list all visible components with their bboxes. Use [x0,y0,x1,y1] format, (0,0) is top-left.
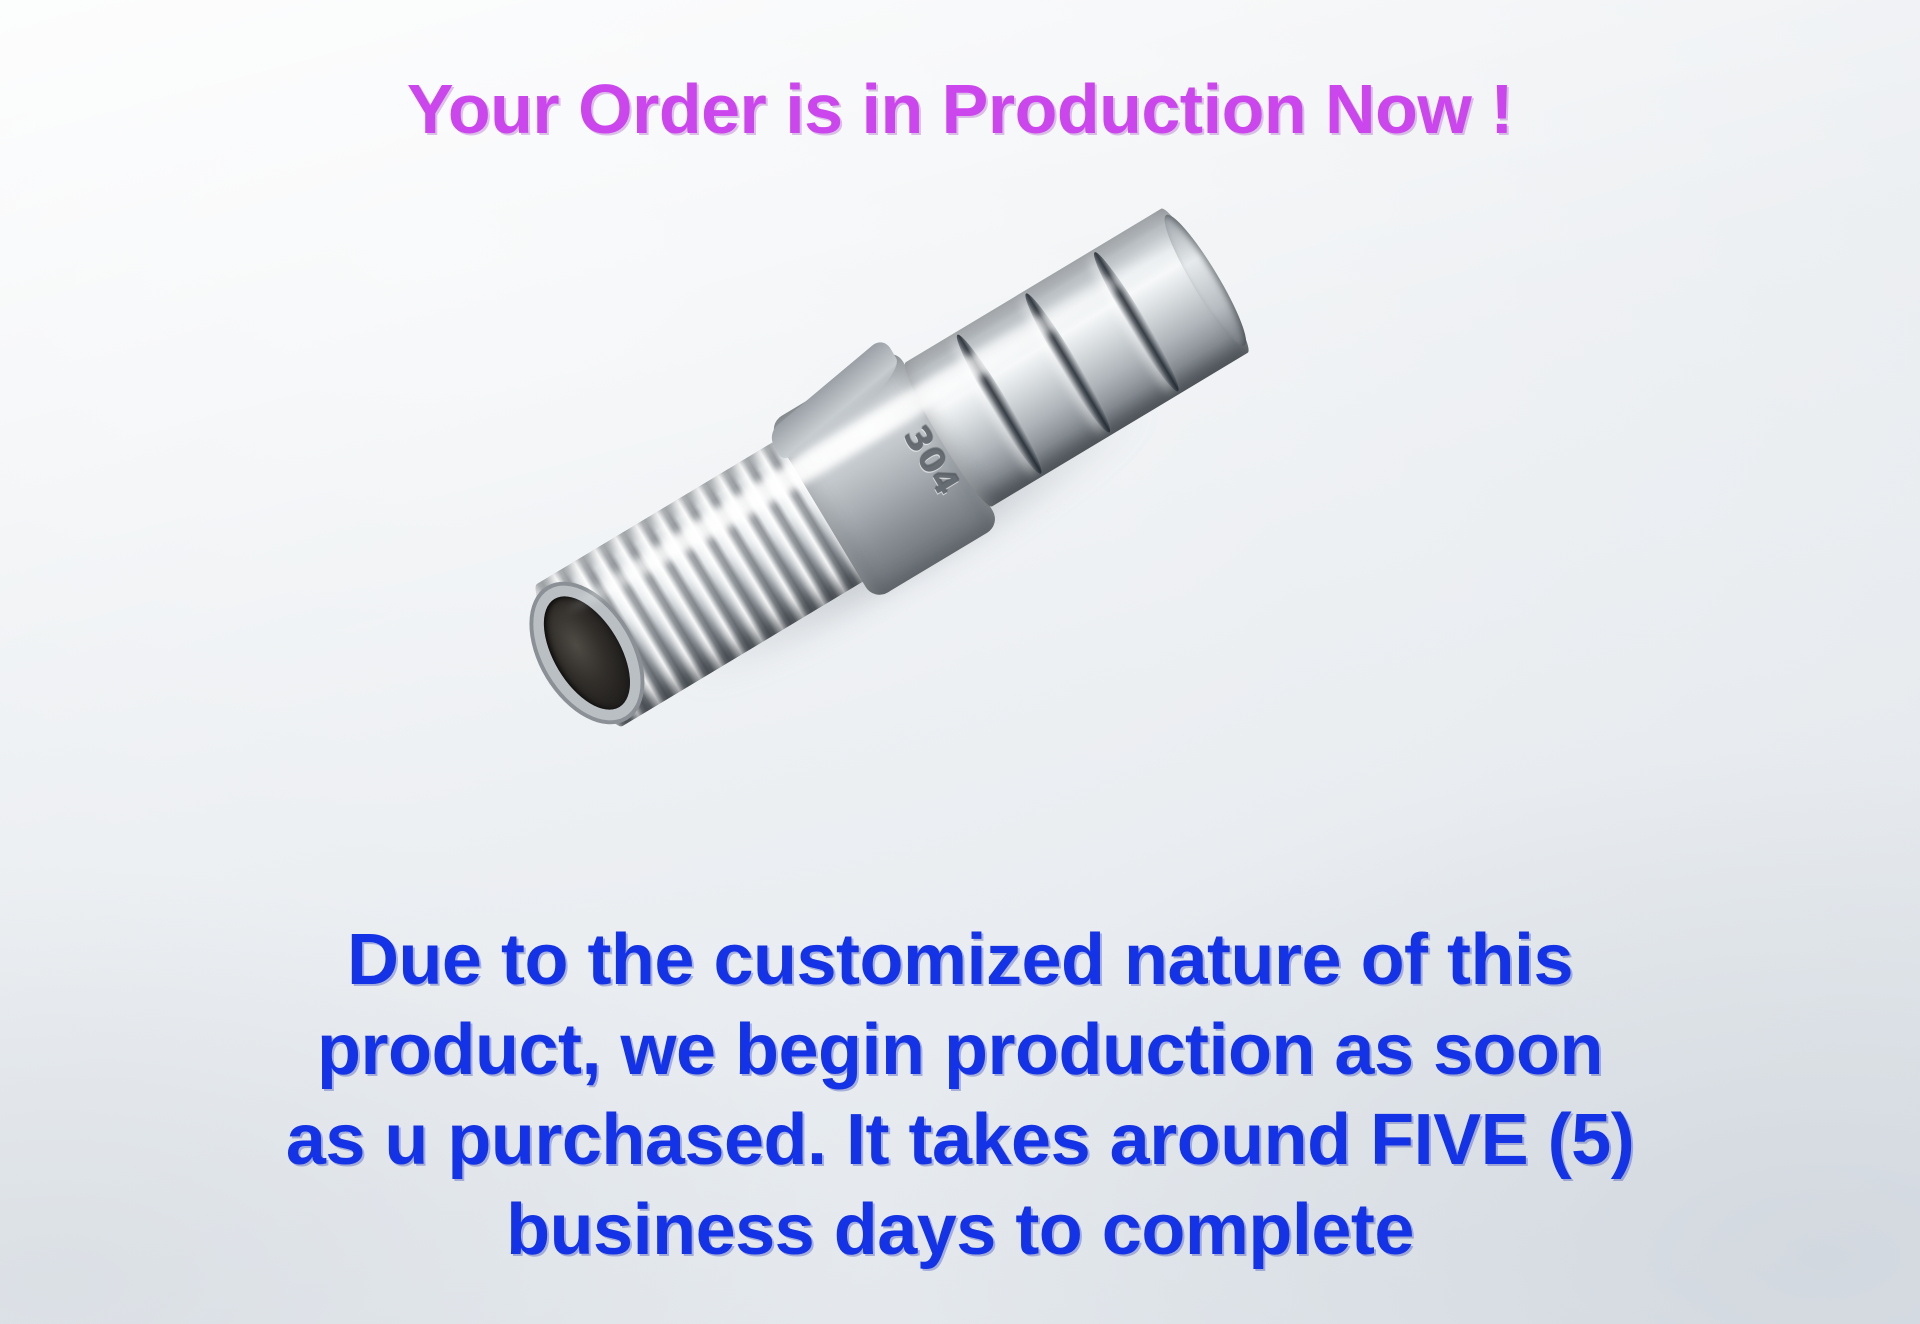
production-notice-message: Due to the customized nature of this pro… [155,915,1765,1275]
message-line: as u purchased. It takes around FIVE (5) [155,1095,1765,1185]
barb-ridge [1087,248,1185,396]
promo-banner: 304 Your Order is in Production Now ! Du… [0,0,1920,1324]
barb-ridge [1019,289,1117,437]
product-photo-hose-barb-fitting: 304 [429,62,1372,903]
headline-order-in-production: Your Order is in Production Now ! [0,74,1920,144]
barb-ridge [950,330,1048,478]
message-line: Due to the customized nature of this [155,915,1765,1005]
message-line: product, we begin production as soon [155,1005,1765,1095]
message-line: business days to complete [155,1185,1765,1275]
barb-tip [1155,208,1256,352]
